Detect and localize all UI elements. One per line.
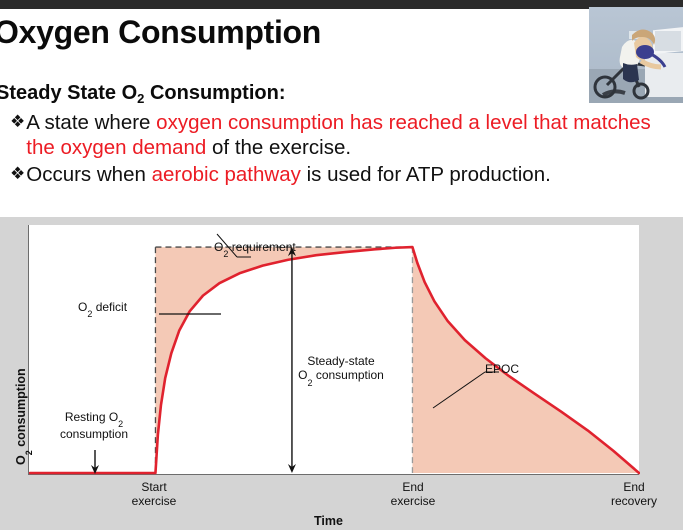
annotation-text-line2-post: consumption	[312, 368, 383, 382]
list-item: ❖ Occurs when aerobic pathway is used fo…	[10, 162, 680, 187]
bullet-text-part: of the exercise.	[206, 136, 351, 159]
subtitle-post: Consumption:	[144, 82, 285, 104]
bullet-text-part: Occurs when	[26, 163, 151, 186]
list-item: ❖ A state where oxygen consumption has r…	[10, 110, 680, 160]
annotation-o2-deficit: O2 deficit	[78, 300, 127, 317]
annotation-text-pre: EPOC	[485, 362, 519, 376]
x-tick-line1: Start	[141, 480, 166, 494]
figure-panel: O2 consumption Time Start exercise End e…	[0, 217, 683, 530]
annotation-epoc: EPOC	[485, 362, 519, 376]
annotation-text-sub: 2	[223, 249, 228, 259]
x-tick-line2: recovery	[589, 494, 679, 508]
top-bar	[0, 0, 683, 9]
exercise-test-photo	[589, 7, 683, 103]
chart-y-axis-label: O2 consumption	[14, 368, 31, 465]
y-axis-label-sub: 2	[24, 450, 34, 455]
bullet-list: ❖ A state where oxygen consumption has r…	[10, 110, 680, 189]
bullet-text: Occurs when aerobic pathway is used for …	[26, 162, 680, 187]
annotation-text-sub: 2	[87, 309, 92, 319]
x-tick-line2: exercise	[363, 494, 463, 508]
bullet-diamond-icon: ❖	[10, 110, 25, 134]
chart-x-axis-label: Time	[314, 514, 343, 528]
x-tick-end-exercise: End exercise	[363, 480, 463, 508]
annotation-text-pre: O	[78, 300, 87, 314]
bullet-text-highlight: aerobic pathway	[152, 163, 301, 186]
bullet-text-part: A state where	[26, 111, 156, 134]
annotation-text-line2-sub: 2	[307, 378, 312, 388]
bullet-diamond-icon: ❖	[10, 162, 25, 186]
annotation-resting-o2-consumption: Resting O2consumption	[46, 410, 142, 442]
slide-root: Oxygen Consumption	[0, 0, 683, 530]
annotation-text-pre: O	[214, 240, 223, 254]
annotation-text-post: requirement	[228, 240, 295, 254]
subtitle-subscript: 2	[137, 91, 144, 106]
bullet-text-part: is used for ATP production.	[301, 163, 551, 186]
annotation-text-pre: Resting O	[65, 410, 118, 424]
annotation-o2-requirement: O2 requirement	[214, 240, 296, 257]
x-tick-line2: exercise	[104, 494, 204, 508]
subtitle-pre: Steady State O	[0, 82, 137, 104]
x-tick-line1: End	[623, 480, 644, 494]
annotation-steady-state-o2-consumption: Steady-state O2 consumption	[283, 354, 399, 386]
page-title: Oxygen Consumption	[0, 14, 321, 51]
y-axis-label-post: consumption	[14, 368, 28, 450]
x-tick-line1: End	[402, 480, 423, 494]
y-axis-label-pre: O	[14, 455, 28, 465]
x-tick-end-recovery: End recovery	[589, 480, 679, 508]
section-subtitle: Steady State O2 Consumption:	[0, 82, 286, 105]
annotation-text-sub: 2	[118, 419, 123, 429]
annotation-text-line2: consumption	[46, 427, 142, 441]
x-tick-start-exercise: Start exercise	[104, 480, 204, 508]
bullet-text: A state where oxygen consumption has rea…	[26, 110, 680, 160]
annotation-text-line1: Steady-state	[307, 354, 374, 368]
annotation-text-post: deficit	[92, 300, 127, 314]
